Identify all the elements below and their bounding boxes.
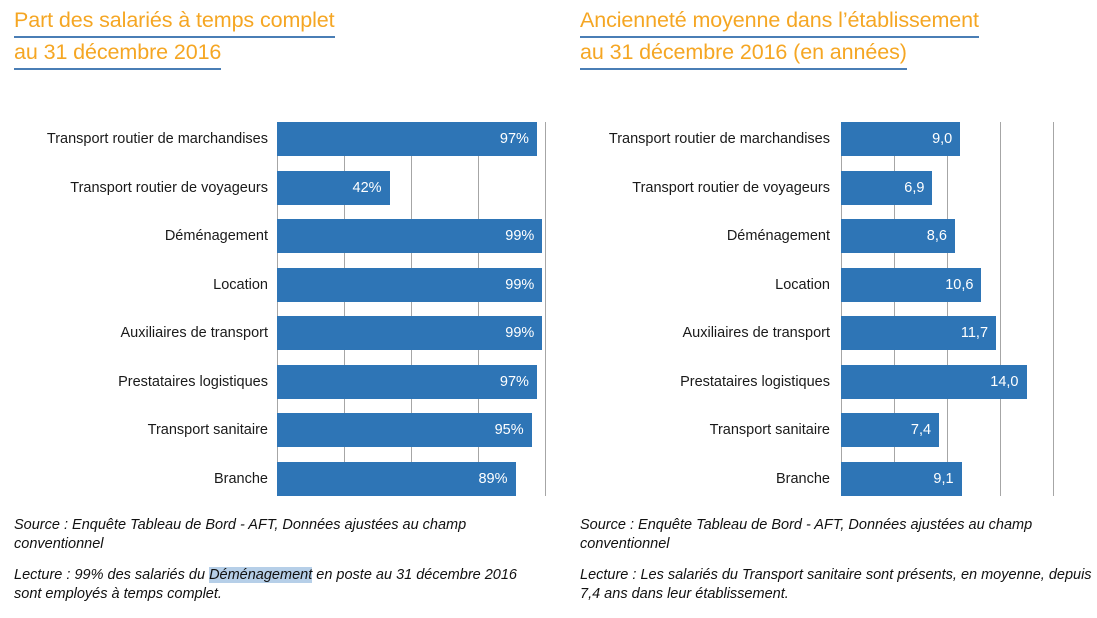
bar-row: Location99% [0,268,556,302]
bar: 10,6 [841,268,981,302]
bar: 99% [277,268,542,302]
bar-value-label: 99% [505,219,534,253]
category-label: Transport routier de voyageurs [570,171,830,205]
bar-row: Déménagement8,6 [570,219,1097,253]
bar: 7,4 [841,413,939,447]
bar-chart-right: Transport routier de marchandises9,0Tran… [570,118,1097,500]
bar: 14,0 [841,365,1027,399]
plot-area-left: Transport routier de marchandises97%Tran… [0,118,556,500]
bar-row: Transport sanitaire7,4 [570,413,1097,447]
category-label: Branche [0,462,268,496]
figure-page: Part des salariés à temps complet au 31 … [0,0,1097,618]
bar: 95% [277,413,532,447]
note-text: Lecture : Les salariés du Transport sani… [580,567,1092,602]
bar-rows-left: Transport routier de marchandises97%Tran… [0,118,556,500]
page-title-left: Part des salariés à temps complet au 31 … [14,6,335,70]
bar: 9,0 [841,122,960,156]
category-label: Transport routier de marchandises [0,122,268,156]
category-label: Transport sanitaire [0,413,268,447]
plot-area-right: Transport routier de marchandises9,0Tran… [570,118,1097,500]
note-text: Lecture : 99% des salariés du [14,567,209,583]
bar-value-label: 6,9 [904,171,924,205]
bar-value-label: 9,1 [933,462,953,496]
bar-value-label: 8,6 [927,219,947,253]
category-label: Transport routier de voyageurs [0,171,268,205]
bar-row: Auxiliaires de transport11,7 [570,316,1097,350]
bar: 97% [277,122,537,156]
category-label: Auxiliaires de transport [0,316,268,350]
category-label: Location [570,268,830,302]
category-label: Prestataires logistiques [0,365,268,399]
category-label: Déménagement [0,219,268,253]
bar-row: Transport routier de voyageurs6,9 [570,171,1097,205]
bar-row: Branche89% [0,462,556,496]
title-line-1: Part des salariés à temps complet [14,6,335,38]
chart-notes-right: Source : Enquête Tableau de Bord - AFT, … [580,516,1092,604]
bar-row: Transport sanitaire95% [0,413,556,447]
lecture-note-right: Lecture : Les salariés du Transport sani… [580,566,1092,604]
category-label: Location [0,268,268,302]
bar-row: Transport routier de marchandises97% [0,122,556,156]
bar-value-label: 97% [500,122,529,156]
bar-value-label: 97% [500,365,529,399]
page-title-right: Ancienneté moyenne dans l’établissement … [580,6,979,70]
bar-value-label: 42% [353,171,382,205]
bar: 89% [277,462,516,496]
bar: 6,9 [841,171,932,205]
chart-panel-right: Ancienneté moyenne dans l’établissement … [570,0,1097,618]
category-label: Transport sanitaire [570,413,830,447]
bar-row: Transport routier de marchandises9,0 [570,122,1097,156]
bar-value-label: 11,7 [961,316,988,350]
lecture-note-left: Lecture : 99% des salariés du Déménageme… [14,566,542,604]
source-note-left: Source : Enquête Tableau de Bord - AFT, … [14,516,542,554]
category-label: Branche [570,462,830,496]
bar: 42% [277,171,390,205]
bar: 11,7 [841,316,996,350]
bar: 99% [277,316,542,350]
bar-row: Déménagement99% [0,219,556,253]
bar-value-label: 10,6 [945,268,973,302]
bar-value-label: 99% [505,316,534,350]
bar-value-label: 14,0 [990,365,1018,399]
bar-value-label: 95% [495,413,524,447]
chart-panel-left: Part des salariés à temps complet au 31 … [0,0,560,618]
bar-chart-left: Transport routier de marchandises97%Tran… [0,118,560,500]
bar-value-label: 89% [478,462,507,496]
bar-row: Location10,6 [570,268,1097,302]
bar: 8,6 [841,219,955,253]
bar-row: Auxiliaires de transport99% [0,316,556,350]
highlighted-term: Déménagement [209,567,312,583]
bar-row: Branche9,1 [570,462,1097,496]
bar: 99% [277,219,542,253]
bar-row: Transport routier de voyageurs42% [0,171,556,205]
bar-row: Prestataires logistiques97% [0,365,556,399]
source-note-right: Source : Enquête Tableau de Bord - AFT, … [580,516,1092,554]
title-line-1: Ancienneté moyenne dans l’établissement [580,6,979,38]
category-label: Déménagement [570,219,830,253]
bar-value-label: 7,4 [911,413,931,447]
bar: 97% [277,365,537,399]
chart-notes-left: Source : Enquête Tableau de Bord - AFT, … [14,516,542,604]
bar-rows-right: Transport routier de marchandises9,0Tran… [570,118,1097,500]
category-label: Transport routier de marchandises [570,122,830,156]
bar-value-label: 9,0 [932,122,952,156]
title-line-2: au 31 décembre 2016 (en années) [580,38,907,70]
bar-row: Prestataires logistiques14,0 [570,365,1097,399]
category-label: Prestataires logistiques [570,365,830,399]
bar: 9,1 [841,462,962,496]
category-label: Auxiliaires de transport [570,316,830,350]
title-line-2: au 31 décembre 2016 [14,38,221,70]
bar-value-label: 99% [505,268,534,302]
